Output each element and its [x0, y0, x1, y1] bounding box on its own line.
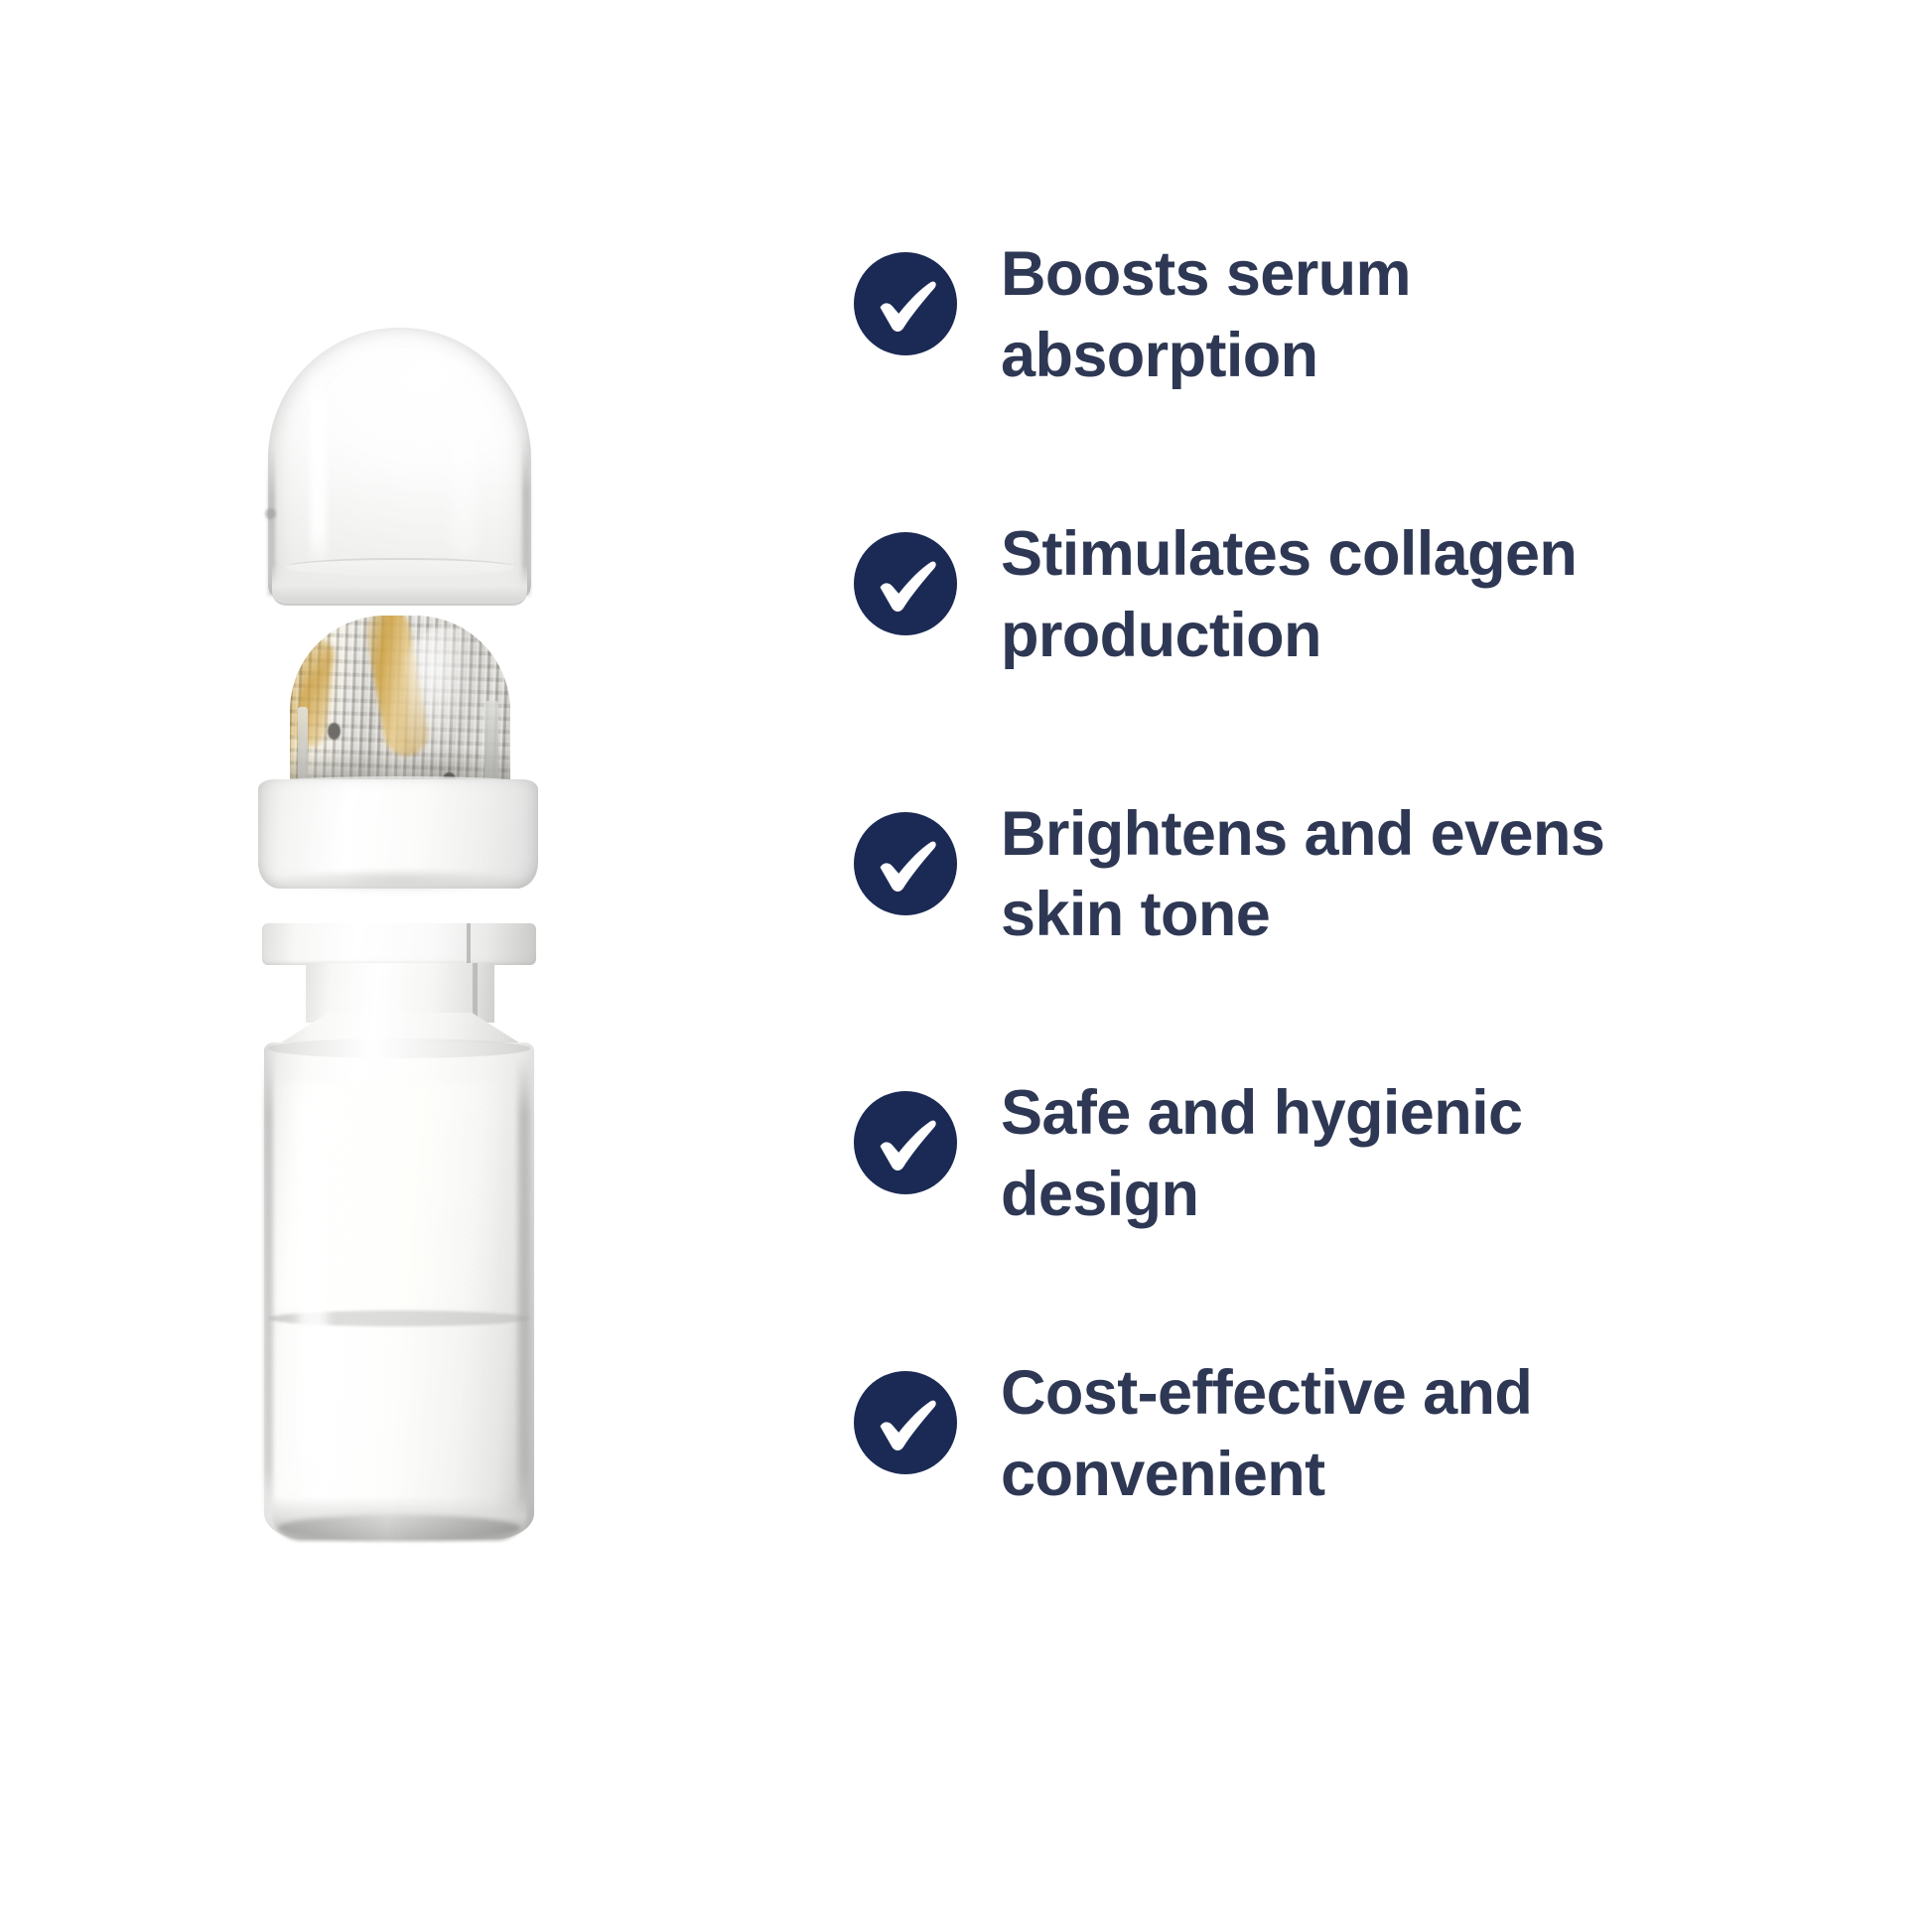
benefit-label: Boosts serum absorption [1001, 234, 1411, 397]
check-circle-icon [854, 252, 957, 355]
vial-shoulder [268, 1038, 530, 1058]
vial-flange-seam [467, 923, 471, 965]
vial-base-ellipse [278, 1515, 520, 1541]
benefit-item: Brightens and evens skin tone [854, 794, 1872, 957]
product-part-microneedle-head [290, 616, 510, 794]
cap-notch-mark [265, 508, 276, 519]
benefit-item: Cost-effective and convenient [854, 1353, 1872, 1516]
check-circle-icon [854, 1091, 957, 1194]
benefit-item: Boosts serum absorption [854, 234, 1872, 397]
cap-highlight-left [310, 363, 327, 572]
cap-highlight-right [451, 379, 477, 558]
check-circle-icon [854, 532, 957, 635]
needle-head-body [290, 616, 510, 794]
benefit-item: Stimulates collagen production [854, 514, 1872, 677]
benefit-label: Stimulates collagen production [1001, 514, 1577, 677]
product-benefits-infographic: Boosts serum absorption Stimulates colla… [0, 0, 1932, 1932]
vial-edge-left [264, 1058, 273, 1523]
benefits-list: Boosts serum absorption Stimulates colla… [854, 0, 1932, 1932]
check-circle-icon [854, 1371, 957, 1474]
benefit-label: Cost-effective and convenient [1001, 1353, 1532, 1516]
product-exploded-view [238, 328, 596, 1569]
needle-head-specular [407, 625, 484, 764]
check-circle-icon [854, 812, 957, 915]
needle-head-pin-left [328, 723, 341, 740]
cap-bottom-rim [272, 564, 527, 606]
vial-highlight [298, 1066, 328, 1513]
benefit-label: Brightens and evens skin tone [1001, 794, 1604, 957]
vial-neck-flange [262, 923, 536, 965]
vial-edge-right [518, 1058, 530, 1523]
benefit-label: Safe and hygienic design [1001, 1073, 1522, 1236]
product-image-pane [0, 0, 854, 1932]
benefit-item: Safe and hygienic design [854, 1073, 1872, 1236]
collar-bottom-shadow [272, 872, 524, 894]
